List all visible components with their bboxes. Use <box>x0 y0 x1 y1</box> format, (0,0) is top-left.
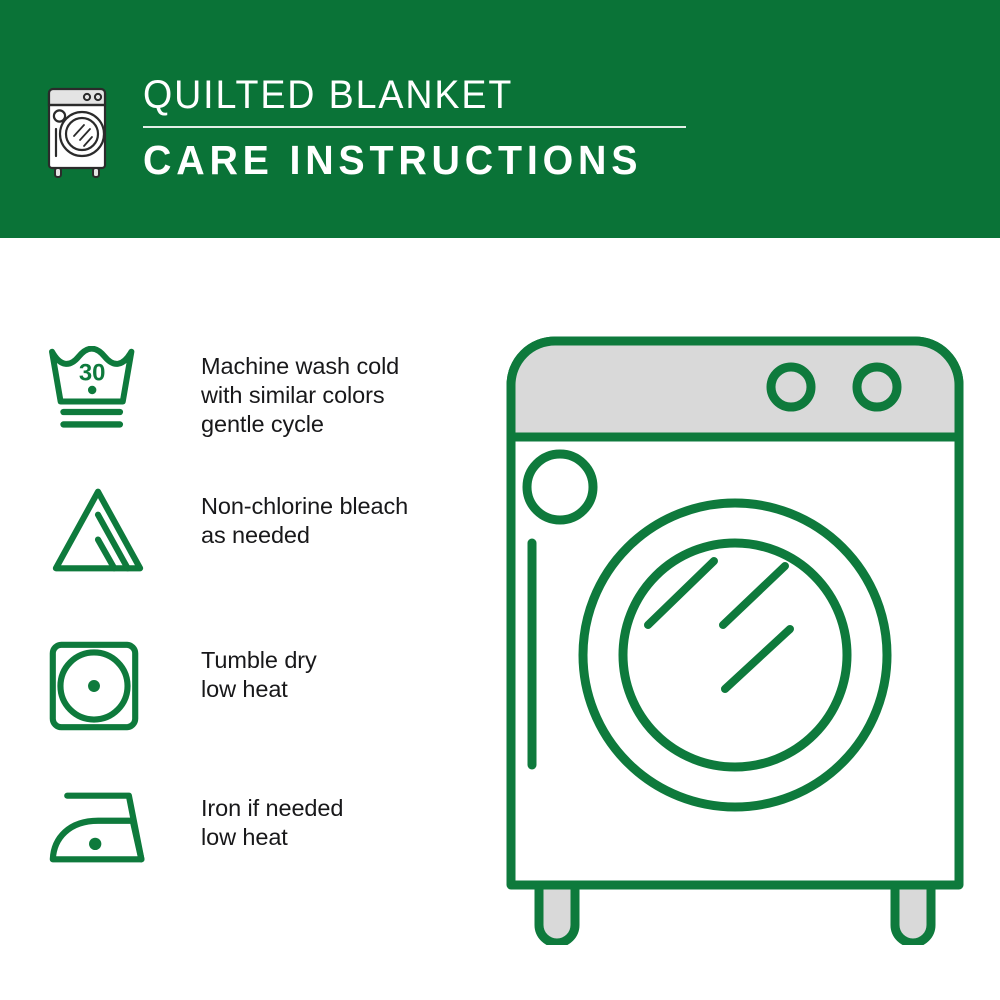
care-item-text: Iron if needed low heat <box>201 788 343 852</box>
care-text-line: gentle cycle <box>201 410 399 439</box>
page-title-primary: QUILTED BLANKET <box>143 72 726 118</box>
care-item-machine-wash: 30 Machine wash cold with similar colors… <box>0 346 500 439</box>
care-item-iron: Iron if needed low heat <box>0 788 500 867</box>
title-divider <box>143 126 686 128</box>
care-text-line: Iron if needed <box>201 794 343 823</box>
care-text-line: Machine wash cold <box>201 352 399 381</box>
leg-right <box>895 885 931 943</box>
care-item-text: Non-chlorine bleach as needed <box>201 486 408 550</box>
washing-machine-icon <box>44 68 116 180</box>
tumble-dry-low-icon <box>48 640 163 732</box>
control-panel <box>511 341 959 437</box>
wash-temperature-label: 30 <box>79 359 106 386</box>
care-item-text: Tumble dry low heat <box>201 640 317 704</box>
care-item-bleach: Non-chlorine bleach as needed <box>0 486 500 574</box>
header-title-block: QUILTED BLANKET CARE INSTRUCTIONS <box>143 72 763 183</box>
care-text-line: with similar colors <box>201 381 399 410</box>
non-chlorine-bleach-icon <box>48 486 163 574</box>
care-item-text: Machine wash cold with similar colors ge… <box>201 346 399 439</box>
care-text-line: Tumble dry <box>201 646 317 675</box>
care-text-line: low heat <box>201 675 317 704</box>
page-title-secondary: CARE INSTRUCTIONS <box>143 137 738 183</box>
front-load-washing-machine-illustration <box>495 325 975 945</box>
care-text-line: as needed <box>201 521 408 550</box>
care-text-line: low heat <box>201 823 343 852</box>
leg-left <box>539 885 575 943</box>
iron-low-heat-icon <box>48 788 163 867</box>
care-instruction-list: 30 Machine wash cold with similar colors… <box>0 238 500 1000</box>
care-text-line: Non-chlorine bleach <box>201 492 408 521</box>
header-banner: QUILTED BLANKET CARE INSTRUCTIONS <box>0 0 1000 238</box>
care-item-tumble-dry: Tumble dry low heat <box>0 640 500 732</box>
machine-wash-30-gentle-icon: 30 <box>48 346 163 434</box>
care-instructions-page: QUILTED BLANKET CARE INSTRUCTIONS <box>0 0 1000 1000</box>
